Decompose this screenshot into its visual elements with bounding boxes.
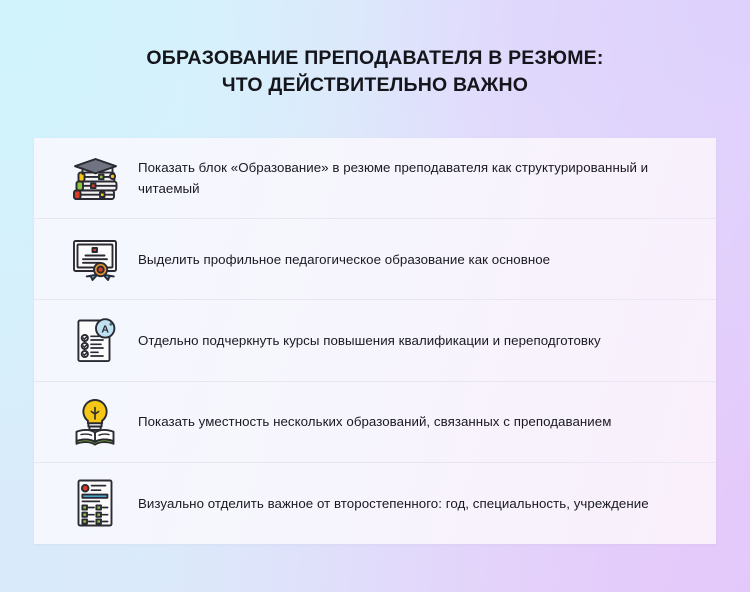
resume-document-icon bbox=[52, 477, 138, 529]
list-item-text: Показать уместность нескольких образован… bbox=[138, 411, 611, 432]
svg-text:+: + bbox=[109, 320, 114, 329]
list-item: Показать уместность нескольких образован… bbox=[34, 382, 716, 463]
list-item-text: Показать блок «Образование» в резюме пре… bbox=[138, 157, 692, 199]
page-title: ОБРАЗОВАНИЕ ПРЕПОДАВАТЕЛЯ В РЕЗЮМЕ: ЧТО … bbox=[0, 45, 750, 99]
page-title-line-1: ОБРАЗОВАНИЕ ПРЕПОДАВАТЕЛЯ В РЕЗЮМЕ: bbox=[146, 47, 603, 69]
list-item-text: Визуально отделить важное от второстепен… bbox=[138, 493, 649, 514]
list-item: Показать блок «Образование» в резюме пре… bbox=[34, 138, 716, 219]
list-item: Визуально отделить важное от второстепен… bbox=[34, 463, 716, 544]
infographic-canvas: ОБРАЗОВАНИЕ ПРЕПОДАВАТЕЛЯ В РЕЗЮМЕ: ЧТО … bbox=[0, 0, 750, 592]
graduation-cap-books-icon bbox=[52, 153, 138, 203]
list-item: A + Отдельно подчеркнуть курсы повышения… bbox=[34, 300, 716, 381]
checklist-grade-a-plus-icon: A + bbox=[52, 315, 138, 365]
tips-card: Показать блок «Образование» в резюме пре… bbox=[34, 138, 716, 544]
certificate-diploma-icon bbox=[52, 236, 138, 282]
lightbulb-open-book-icon bbox=[52, 396, 138, 448]
list-item: Выделить профильное педагогическое образ… bbox=[34, 219, 716, 300]
page-title-line-2: ЧТО ДЕЙСТВИТЕЛЬНО ВАЖНО bbox=[0, 72, 750, 99]
list-item-text: Выделить профильное педагогическое образ… bbox=[138, 249, 550, 270]
list-item-text: Отдельно подчеркнуть курсы повышения ква… bbox=[138, 330, 601, 351]
